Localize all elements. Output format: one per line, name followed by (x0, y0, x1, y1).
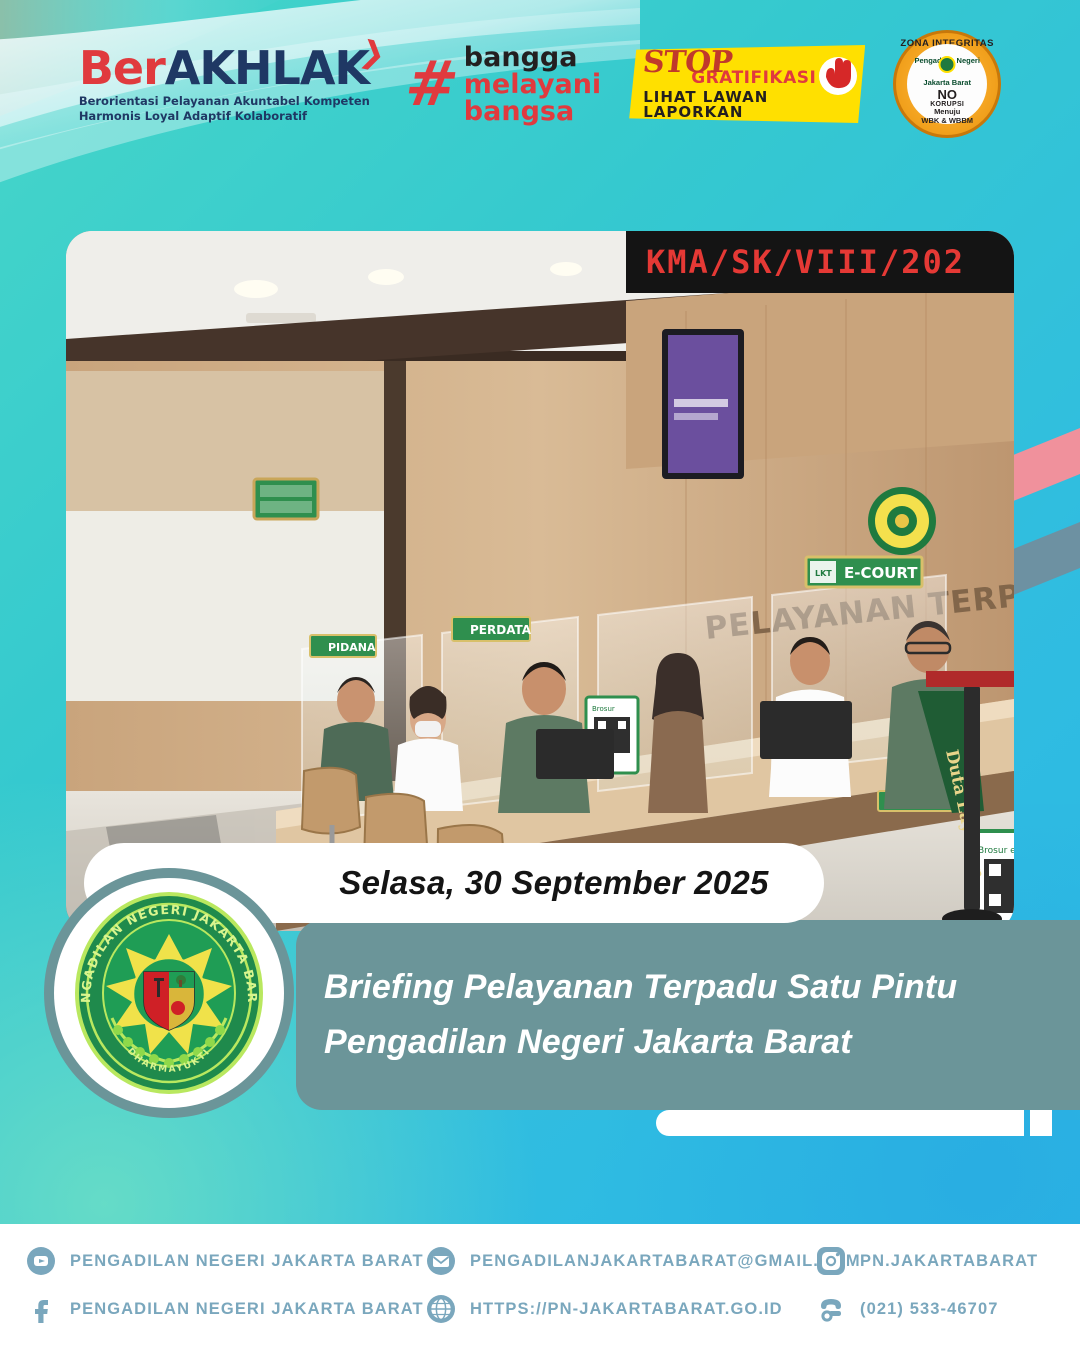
event-photo: KMA/SK/VIII/202 PELAYANAN TERPADU SATU P… (66, 231, 1014, 931)
contact-youtube-text: PENGADILAN NEGERI JAKARTA BARAT (70, 1252, 424, 1271)
court-seal-badge: PENGADILAN NEGERI JAKARTA BARAT (44, 868, 294, 1118)
zona-integritas-logo: ZONA INTEGRITAS PN JB BISA Pengadilan Ne… (893, 30, 1001, 138)
decorative-white-bar-1 (656, 1110, 1024, 1136)
decorative-white-bar-2 (1000, 1110, 1022, 1136)
bangga-wordmark: bangga melayani bangsa (464, 44, 601, 125)
svg-text:PIDANA: PIDANA (328, 641, 376, 654)
header-logo-row: BerAKHLAK ❯ Berorientasi Pelayanan Akunt… (0, 28, 1080, 140)
berakhlak-wordmark: BerAKHLAK ❯ (79, 45, 370, 91)
bangga-melayani-bangsa-logo: # bangga melayani bangsa (406, 44, 601, 125)
zona-integritas-inner: Pengadilan Negeri Jakarta Barat NO KORUP… (907, 44, 987, 124)
contact-facebook[interactable]: PENGADILAN NEGERI JAKARTA BARAT (26, 1294, 426, 1324)
hashtag-icon: # (402, 56, 462, 112)
event-title-line-2: Pengadilan Negeri Jakarta Barat (324, 1015, 1080, 1070)
berakhlak-word-ber: Ber (79, 41, 165, 95)
contact-phone-text: (021) 533-46707 (860, 1300, 999, 1319)
footer-contact-bar: PENGADILAN NEGERI JAKARTA BARAT PENGADIL… (0, 1224, 1080, 1350)
berakhlak-tagline: Berorientasi Pelayanan Akuntabel Kompete… (79, 94, 370, 123)
court-seal-ring: PENGADILAN NEGERI JAKARTA BARAT (54, 878, 284, 1108)
contact-facebook-text: PENGADILAN NEGERI JAKARTA BARAT (70, 1300, 424, 1319)
red-hand-icon (817, 51, 859, 97)
berakhlak-word-akhlak: AKHLAK (165, 41, 369, 95)
decorative-white-bar-3 (1030, 1110, 1052, 1136)
facebook-icon (26, 1294, 56, 1324)
contact-website[interactable]: HTTPS://PN-JAKARTABARAT.GO.ID (426, 1294, 816, 1324)
globe-icon (426, 1294, 456, 1324)
footer-contact-grid: PENGADILAN NEGERI JAKARTA BARAT PENGADIL… (26, 1246, 1054, 1324)
svg-text:PERDATA: PERDATA (470, 623, 532, 637)
zona-no-text: NO (937, 88, 957, 101)
zona-wbk-wbbm-text: WBK & WBBM (921, 117, 973, 126)
contact-email-text: PENGADILANJAKARTABARAT@GMAIL.COM (470, 1252, 861, 1271)
poster-panel: BerAKHLAK ❯ Berorientasi Pelayanan Akunt… (0, 0, 1080, 1224)
berakhlak-tagline-line-1: Berorientasi Pelayanan Akuntabel Kompete… (79, 94, 370, 109)
youtube-icon (26, 1246, 56, 1276)
contact-instagram-text: PN.JAKARTABARAT (860, 1252, 1038, 1271)
contact-phone[interactable]: (021) 533-46707 (816, 1294, 1080, 1324)
instagram-icon (816, 1246, 846, 1276)
svg-text:Brosur: Brosur (592, 705, 615, 713)
email-icon (426, 1246, 456, 1276)
contact-website-text: HTTPS://PN-JAKARTABARAT.GO.ID (470, 1300, 783, 1319)
pengadilan-negeri-jakarta-barat-seal: PENGADILAN NEGERI JAKARTA BARAT (66, 890, 272, 1096)
bangga-line-1: bangga (464, 44, 601, 71)
contact-email[interactable]: PENGADILANJAKARTABARAT@GMAIL.COM (426, 1246, 816, 1276)
svg-text:E-COURT: E-COURT (844, 564, 918, 582)
event-photo-illustration: KMA/SK/VIII/202 PELAYANAN TERPADU SATU P… (66, 231, 1014, 931)
mahkamah-agung-emblem-icon (939, 56, 956, 73)
bangga-line-2: melayani (464, 71, 601, 98)
phone-icon (816, 1294, 846, 1324)
event-title-line-1: Briefing Pelayanan Terpadu Satu Pintu (324, 960, 1080, 1015)
berakhlak-tagline-line-2: Harmonis Loyal Adaptif Kolaboratif (79, 109, 370, 124)
bangga-line-3: bangsa (464, 98, 601, 125)
svg-text:LKT: LKT (815, 569, 832, 578)
berakhlak-logo: BerAKHLAK ❯ Berorientasi Pelayanan Akunt… (79, 45, 378, 123)
contact-youtube[interactable]: PENGADILAN NEGERI JAKARTA BARAT (26, 1246, 426, 1276)
svg-text:KMA/SK/VIII/202: KMA/SK/VIII/202 (646, 243, 965, 281)
contact-instagram[interactable]: PN.JAKARTABARAT (816, 1246, 1080, 1276)
stop-gratifikasi-logo: STOP GRATIFIKASI LIHAT LAWAN LAPORKAN (629, 45, 865, 123)
title-band: Briefing Pelayanan Terpadu Satu Pintu Pe… (296, 920, 1080, 1110)
berakhlak-arrow-icon: ❯ (357, 37, 387, 71)
